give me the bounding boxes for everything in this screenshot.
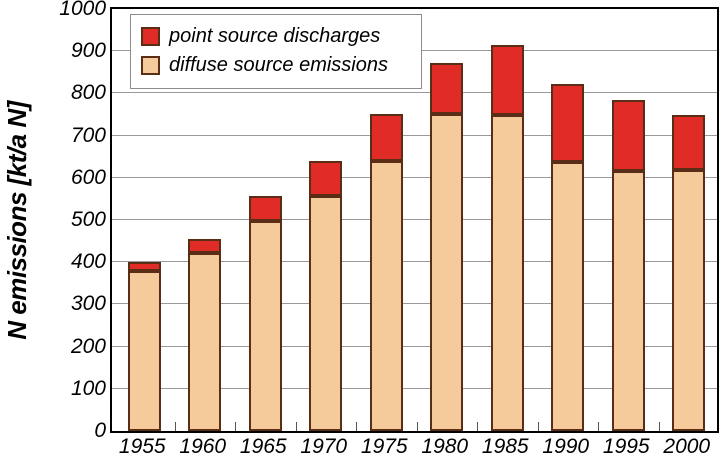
y-axis-tick-label: 1000 — [40, 0, 106, 19]
bar-segment-point-source — [491, 45, 524, 115]
y-axis-tick-label: 800 — [40, 82, 106, 103]
bar-segment-point-source — [551, 84, 584, 162]
legend-swatch-point-source — [141, 27, 160, 46]
legend-swatch-diffuse-source — [141, 56, 160, 75]
legend-item-diffuse-source: diffuse source emissions — [141, 51, 413, 80]
bar-group — [612, 100, 645, 431]
bar-segment-point-source — [309, 161, 342, 196]
x-axis-tick-mark — [598, 422, 599, 431]
x-axis-tick-label: 1965 — [233, 436, 294, 457]
y-axis-tick-label: 0 — [40, 420, 106, 441]
x-axis-tick-mark — [659, 422, 660, 431]
x-axis-tick-mark — [538, 422, 539, 431]
bar-segment-diffuse-source — [249, 221, 282, 431]
bar-segment-diffuse-source — [672, 170, 705, 431]
x-axis-tick-label: 2000 — [657, 436, 718, 457]
bar-segment-point-source — [370, 114, 403, 161]
y-axis-tick-label: 500 — [40, 209, 106, 230]
bar-group — [370, 114, 403, 431]
x-axis-tick-mark — [175, 422, 176, 431]
x-axis-tick-mark — [477, 422, 478, 431]
plot-area: point source discharges diffuse source e… — [110, 7, 719, 433]
x-axis-tick-label: 1990 — [536, 436, 597, 457]
x-axis-tick-label: 1980 — [415, 436, 476, 457]
y-axis-tick-label: 700 — [40, 125, 106, 146]
y-axis-tick-label: 600 — [40, 167, 106, 188]
x-axis-tick-label: 1975 — [354, 436, 415, 457]
legend-item-point-source: point source discharges — [141, 22, 413, 51]
y-axis-tick-label: 100 — [40, 378, 106, 399]
bar-segment-point-source — [128, 262, 161, 271]
x-axis-tick-label: 1955 — [112, 436, 173, 457]
bar-group — [672, 115, 705, 431]
bar-group — [551, 84, 584, 431]
bar-segment-diffuse-source — [128, 271, 161, 431]
bar-segment-diffuse-source — [188, 253, 221, 431]
x-axis-tick-mark — [356, 422, 357, 431]
y-axis-title: N emissions [kt/a N] — [0, 0, 34, 440]
bar-segment-point-source — [249, 196, 282, 221]
y-axis-tick-labels: 01002003004005006007008009001000 — [34, 0, 106, 470]
x-axis-tick-label: 1985 — [475, 436, 536, 457]
y-axis-title-text: N emissions [kt/a N] — [2, 101, 33, 340]
x-axis-tick-label: 1970 — [294, 436, 355, 457]
y-axis-tick-label: 200 — [40, 336, 106, 357]
legend-label-diffuse-source: diffuse source emissions — [169, 54, 388, 77]
bar-chart: N emissions [kt/a N] 0100200300400500600… — [0, 0, 723, 470]
bar-segment-point-source — [188, 239, 221, 253]
x-axis-tick-mark — [235, 422, 236, 431]
y-axis-tick-label: 300 — [40, 293, 106, 314]
bar-group — [188, 239, 221, 431]
bar-segment-diffuse-source — [309, 196, 342, 431]
y-axis-tick-label: 400 — [40, 251, 106, 272]
bar-group — [309, 161, 342, 431]
x-axis-tick-mark — [296, 422, 297, 431]
bar-segment-diffuse-source — [612, 171, 645, 431]
bar-group — [249, 196, 282, 431]
bar-group — [430, 63, 463, 431]
bar-group — [128, 262, 161, 431]
y-axis-tick-label: 900 — [40, 40, 106, 61]
x-axis-tick-label: 1995 — [596, 436, 657, 457]
bar-segment-point-source — [672, 115, 705, 170]
bar-segment-point-source — [612, 100, 645, 172]
x-axis-tick-label: 1960 — [173, 436, 234, 457]
legend-label-point-source: point source discharges — [169, 25, 380, 48]
bar-segment-diffuse-source — [551, 162, 584, 431]
bar-segment-point-source — [430, 63, 463, 114]
bar-group — [491, 45, 524, 431]
x-axis-tick-labels: 1955196019651970197519801985199019952000 — [110, 436, 719, 470]
legend: point source discharges diffuse source e… — [130, 14, 422, 89]
bar-segment-diffuse-source — [491, 115, 524, 431]
bar-segment-diffuse-source — [430, 114, 463, 431]
x-axis-tick-mark — [417, 422, 418, 431]
bar-segment-diffuse-source — [370, 161, 403, 431]
